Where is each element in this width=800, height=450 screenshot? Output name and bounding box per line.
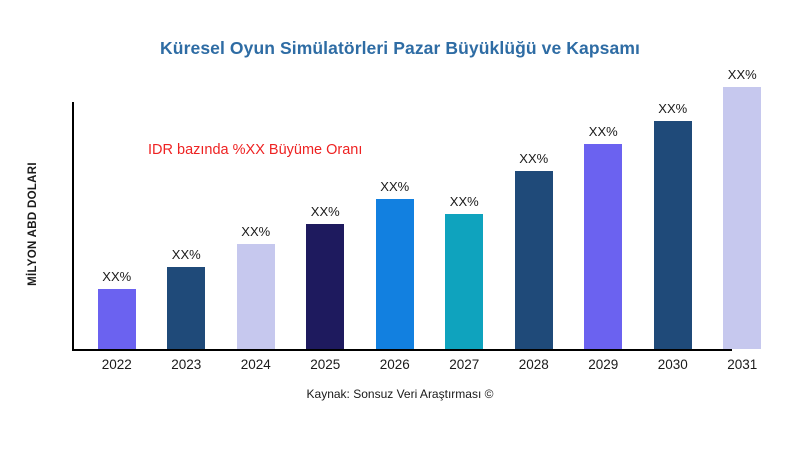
bar-group[interactable]: XX% <box>445 191 483 349</box>
bar-value-label: XX% <box>380 179 409 194</box>
bar-value-label: XX% <box>519 151 548 166</box>
bar-group[interactable]: XX% <box>306 201 344 349</box>
bar-value-label: XX% <box>241 224 270 239</box>
bar-group[interactable]: XX% <box>723 64 761 349</box>
bar-rect[interactable] <box>654 121 692 349</box>
x-tick-label: 2030 <box>638 357 708 372</box>
bar-rect[interactable] <box>98 289 136 349</box>
bar-rect[interactable] <box>167 267 205 349</box>
x-tick-label: 2031 <box>708 357 778 372</box>
x-tick-label: 2029 <box>569 357 639 372</box>
bar-group[interactable]: XX% <box>376 176 414 349</box>
bar-group[interactable]: XX% <box>515 148 553 349</box>
chart-figure: Küresel Oyun Simülatörleri Pazar Büyüklü… <box>0 0 800 450</box>
bar-value-label: XX% <box>728 67 757 82</box>
x-tick-label: 2027 <box>430 357 500 372</box>
x-tick-label: 2023 <box>152 357 222 372</box>
x-tick-label: 2024 <box>221 357 291 372</box>
bar-rect[interactable] <box>515 171 553 349</box>
bar-rect[interactable] <box>723 87 761 349</box>
bar-value-label: XX% <box>589 124 618 139</box>
bar-value-label: XX% <box>172 247 201 262</box>
bar-group[interactable]: XX% <box>654 98 692 349</box>
bar-value-label: XX% <box>311 204 340 219</box>
chart-title: Küresel Oyun Simülatörleri Pazar Büyüklü… <box>0 38 800 59</box>
bar-value-label: XX% <box>450 194 479 209</box>
bar-value-label: XX% <box>102 269 131 284</box>
bar-rect[interactable] <box>445 214 483 349</box>
bar-group[interactable]: XX% <box>237 221 275 349</box>
x-tick-label: 2025 <box>291 357 361 372</box>
x-tick-label: 2026 <box>360 357 430 372</box>
bar-rect[interactable] <box>237 244 275 349</box>
bar-rect[interactable] <box>376 199 414 349</box>
source-note: Kaynak: Sonsuz Veri Araştırması © <box>0 387 800 401</box>
bar-group[interactable]: XX% <box>584 121 622 349</box>
bar-value-label: XX% <box>658 101 687 116</box>
x-tick-label: 2028 <box>499 357 569 372</box>
bar-group[interactable]: XX% <box>98 266 136 349</box>
bar-group[interactable]: XX% <box>167 244 205 349</box>
x-tick-label: 2022 <box>82 357 152 372</box>
y-axis-label: MİLYON ABD DOLARI <box>27 94 39 354</box>
bar-rect[interactable] <box>584 144 622 349</box>
bar-rect[interactable] <box>306 224 344 349</box>
